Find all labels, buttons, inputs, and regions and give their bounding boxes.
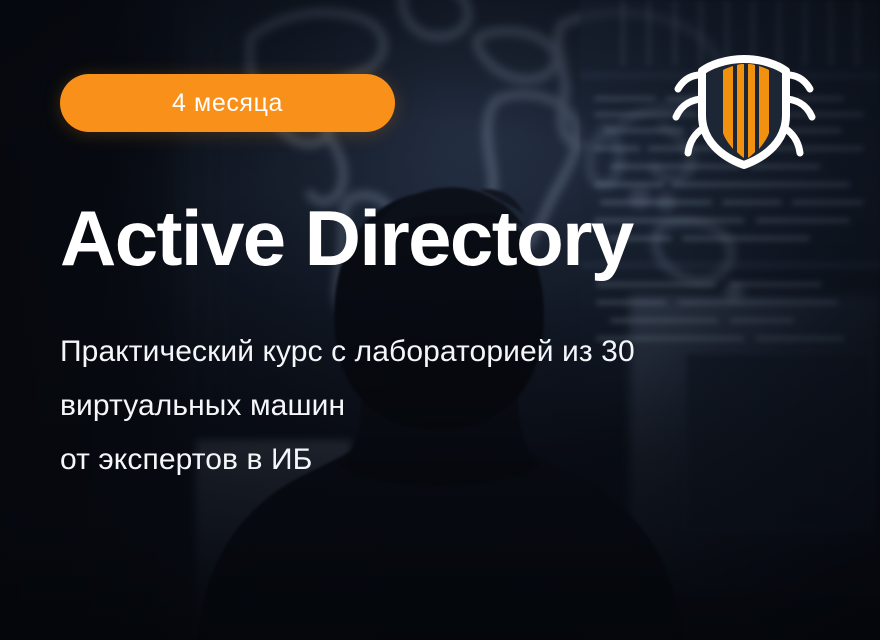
course-promo-banner: 4 месяца [0, 0, 880, 640]
subtitle-line-2: виртуальных машин [60, 379, 800, 433]
subtitle-line-1: Практический курс с лабораторией из 30 [60, 325, 800, 379]
page-title: Active Directory [60, 199, 633, 277]
subtitle-line-3: от экспертов в ИБ [60, 433, 800, 487]
subtitle-block: Практический курс с лабораторией из 30 в… [60, 325, 800, 487]
spider-shield-logo [666, 45, 822, 171]
duration-badge-label: 4 месяца [172, 91, 283, 116]
banner-content: 4 месяца [0, 0, 880, 640]
duration-badge: 4 месяца [60, 74, 395, 132]
